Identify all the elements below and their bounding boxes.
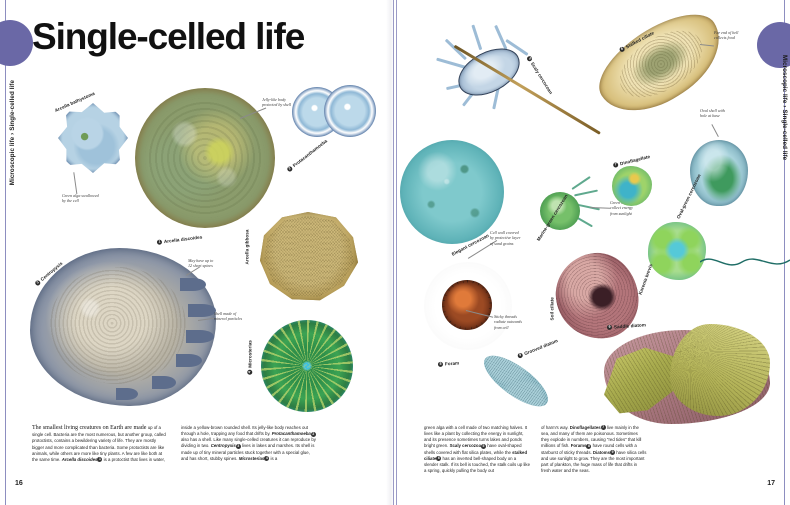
arcella-gibbosa-illustration [258, 212, 358, 302]
figure-saddle-diatom [598, 300, 776, 426]
figure-oval-green-cercozoan [690, 140, 748, 206]
caption-number: 9 [607, 325, 613, 331]
annotation-far-end-of-bell: Far end of bell collects food [714, 30, 738, 41]
keyword-dinoflagellates: Dinoflagellates [570, 425, 601, 430]
keyword-centropyxis: Centropyxis [211, 443, 236, 448]
caption-microsterias: 4Microsterias [247, 340, 252, 375]
centropyxis-spine [116, 388, 138, 400]
gutter-rule-right [396, 0, 397, 505]
caption-arcella-discoides: 1Arcella discoides [157, 234, 203, 245]
figure-arcella-bathystoma [58, 103, 128, 173]
keyword-arcella-discoides: Arcella discoides [62, 457, 98, 462]
left-page-edge-rule [5, 0, 6, 505]
page-number-left: 16 [15, 480, 23, 487]
dinoflagellate-illustration [612, 166, 652, 206]
centropyxis-spine [188, 304, 216, 317]
caption-text: Microsterias [247, 340, 252, 368]
caption-text: Arcella gibbosa [245, 230, 250, 265]
keyword-microsterias: Microsterias [239, 456, 265, 461]
figure-centropyxis [30, 248, 216, 406]
annotation-cell-wall-sand: Cell wall covered by protective layer of… [490, 230, 521, 246]
running-head-topic: Single-celled life [781, 110, 788, 161]
body-tail: is a protoctist that lives in water, [102, 457, 165, 462]
centropyxis-illustration [30, 248, 216, 406]
caption-foram: 8Foram [438, 361, 460, 368]
centropyxis-spine [186, 330, 214, 343]
centropyxis-spine [152, 376, 176, 389]
purple-tab-left [0, 20, 33, 66]
oval-green-cercozoan-illustration [690, 140, 748, 206]
left-page-body-text: The smallest living creatures on Earth a… [32, 425, 318, 463]
scaly-cercozoan-spike [472, 25, 483, 51]
caption-text: Arcella discoides [164, 234, 203, 244]
figure-arcella-gibbosa [258, 212, 358, 302]
body-tail: is a [269, 456, 277, 461]
figure-arcella-discoides [135, 88, 275, 228]
caption-soil-ciliate: Soil ciliate [550, 297, 555, 320]
figure-elegant-cercozoan [400, 140, 504, 244]
page-title: Single-celled life [32, 18, 304, 55]
leader-line-green-alga [74, 172, 78, 194]
centropyxis-spine [180, 278, 206, 291]
running-head-right: Microscopic life›Single-celled life [781, 55, 788, 160]
keyword-forams: Forams [571, 443, 587, 448]
figure-scaly-cercozoan [440, 38, 536, 116]
foram-illustration [442, 280, 492, 330]
running-head-section: Microscopic life [9, 137, 16, 185]
page-number-right: 17 [767, 480, 775, 487]
body-column-1: The smallest living creatures on Earth a… [32, 425, 169, 463]
microsterias-illustration [261, 320, 353, 412]
caption-text: Foram [445, 361, 460, 367]
figure-microsterias [261, 320, 353, 412]
keyword-scaly-cercozoa: Scaly cercozoa [450, 443, 481, 448]
arcella-discoides-illustration [135, 88, 275, 228]
caption-text: Soil ciliate [550, 297, 555, 320]
caption-arcella-gibbosa: Arcella gibbosa [245, 230, 250, 265]
annotation-oval-shell-hole: Oval shell with hole at base [700, 108, 725, 119]
body-column-3: green alga with a cell made of two match… [424, 425, 530, 474]
figure-karenia-brevis [648, 222, 706, 280]
gutter-rule-left [393, 0, 394, 505]
karenia-brevis-illustration [648, 222, 706, 280]
figure-grooved-diatom [478, 348, 554, 414]
arcella-bathystoma-illustration [58, 103, 128, 173]
body-column-4: of harm's way. Dinoflagellates7 live mai… [541, 425, 647, 474]
figure-protacanthamoeba [292, 85, 378, 147]
book-spread: Microscopic life›Single-celled life Micr… [0, 0, 790, 505]
body-column-2: inside a yellow-brown rounded shell. Its… [181, 425, 318, 463]
figure-dinoflagellate [612, 166, 652, 206]
marker-2: 2 [311, 432, 316, 437]
caption-number: 4 [247, 369, 252, 374]
scaly-cercozoan-spike [495, 25, 508, 50]
annotation-sticky-threads: Sticky threads radiate outwards from cel… [494, 314, 522, 330]
body-paragraph: of harm's way. [541, 425, 570, 430]
running-head-left: Microscopic life›Single-celled life [9, 80, 16, 185]
keyword-protacanthamoeba: Protacanthamoeba [272, 431, 311, 436]
figure-foram [424, 262, 512, 350]
annotation-short-spines: May have up to 12 short spines [188, 258, 213, 269]
caption-number: 1 [157, 239, 163, 245]
right-page-body-text: green alga with a cell made of two match… [424, 425, 766, 474]
protacanthamoeba-cell-b [324, 85, 376, 137]
microsterias-rim [255, 314, 358, 417]
elegant-cercozoan-illustration [400, 140, 504, 244]
caption-number: 8 [438, 362, 444, 368]
running-head-topic: Single-celled life [9, 80, 16, 131]
annotation-green-alga-swallowed: Green alga swallowed by the cell [62, 193, 99, 204]
lead-sentence: The smallest living creatures on Earth a… [32, 425, 146, 431]
annotation-shell-mineral: Shell made of mineral particles [214, 311, 242, 322]
centropyxis-spine [176, 354, 202, 367]
chevron-right-icon: › [9, 131, 16, 137]
annotation-jelly-like-body: Jelly-like body protected by shell [262, 97, 291, 108]
keyword-diatoms: Diatoms [593, 450, 610, 455]
running-head-section: Microscopic life [781, 55, 788, 103]
karenia-flagellum [700, 250, 790, 280]
